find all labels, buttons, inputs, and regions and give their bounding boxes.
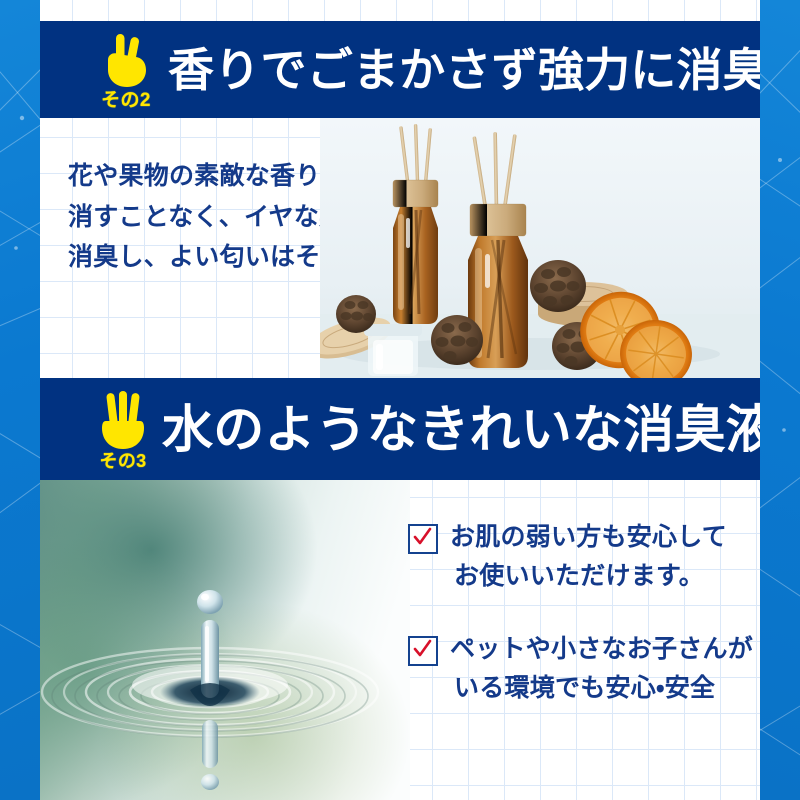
checklist-item-text: ペットや小さなお子さんが いる環境でも安心・安全: [450, 630, 753, 708]
section-2-badge-number: その2: [101, 91, 151, 110]
checklist-1-line-2: お使いいただけます。: [450, 557, 727, 596]
section-3-checklist: お肌の弱い方も安心して お使いいただけます。 ペットや小さなお子さんが いる環境…: [408, 518, 756, 742]
hand-peace-sign-icon: [100, 33, 152, 89]
section-2-body: 花や果物の素敵な香りを 消すことなく、イヤな臭いだけ 消臭し、よい匂いはそのまま: [40, 118, 760, 378]
section-2-badge: その2: [80, 29, 172, 110]
reed-diffuser-photo: [320, 118, 760, 378]
section-2-title: 香りでごまかさず強力に消臭・抗菌: [168, 47, 760, 93]
checklist-item[interactable]: ペットや小さなお子さんが いる環境でも安心・安全: [408, 630, 756, 708]
water-droplet-illustration: [40, 480, 410, 800]
checklist-2-line-1: ペットや小さなお子さんが: [450, 630, 753, 669]
section-3-body: お肌の弱い方も安心して お使いいただけます。 ペットや小さなお子さんが いる環境…: [40, 480, 760, 800]
left-border-network-lines: [0, 0, 40, 800]
check-mark-icon: [412, 527, 432, 547]
section-3-badge-number: その3: [99, 452, 146, 470]
checkbox-checked-icon[interactable]: [408, 524, 438, 554]
section-3-badge: その3: [78, 389, 168, 470]
check-mark-icon: [412, 639, 432, 659]
checkbox-checked-icon[interactable]: [408, 636, 438, 666]
checklist-1-line-1: お肌の弱い方も安心して: [450, 518, 727, 557]
checklist-item[interactable]: お肌の弱い方も安心して お使いいただけます。: [408, 518, 756, 596]
checklist-2-line-2: いる環境でも安心・安全: [450, 669, 753, 708]
checklist-item-text: お肌の弱い方も安心して お使いいただけます。: [450, 518, 727, 596]
section-3-title: 水のようなきれいな消臭液: [162, 404, 760, 455]
water-droplet-photo: [40, 480, 410, 800]
section-2-header-band: その2 香りでごまかさず強力に消臭・抗菌: [40, 21, 760, 118]
right-border-network-lines: [760, 0, 800, 800]
hand-three-fingers-icon: [96, 391, 150, 451]
content-stage: その2 香りでごまかさず強力に消臭・抗菌 花や果物の素敵な香りを 消すことなく、…: [40, 0, 760, 800]
left-blue-border: [0, 0, 40, 800]
section-3-header-band: その3 水のようなきれいな消臭液: [40, 378, 760, 480]
right-blue-border: [760, 0, 800, 800]
poster-root: その2 香りでごまかさず強力に消臭・抗菌 花や果物の素敵な香りを 消すことなく、…: [0, 0, 800, 800]
reed-diffuser-illustration: [320, 118, 760, 378]
